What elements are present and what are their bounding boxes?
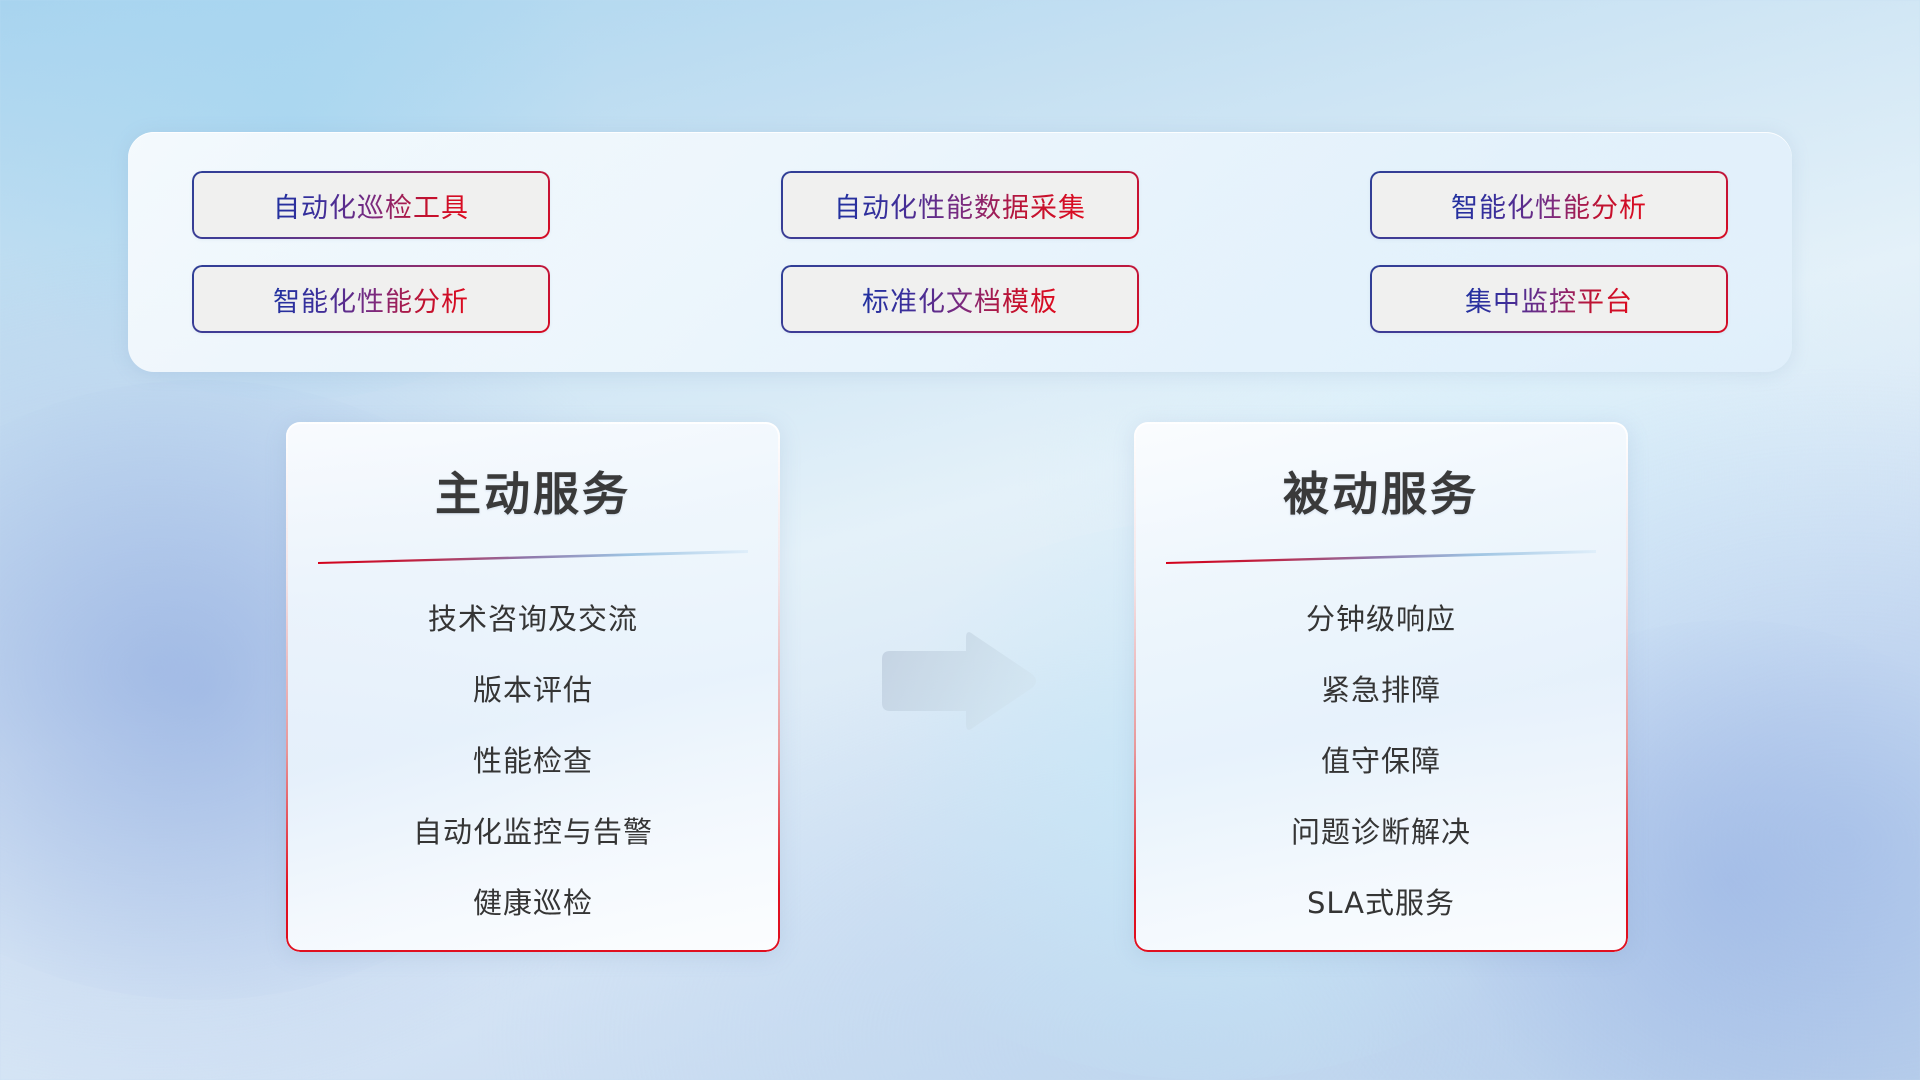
- capability-pill-intelligent-performance-analysis-2[interactable]: 智能化性能分析: [192, 265, 550, 333]
- capability-pill-label: 智能化性能分析: [273, 280, 469, 319]
- capability-panel: 自动化巡检工具 自动化性能数据采集 智能化性能分析 智能化性能分析 标准化文档模…: [128, 132, 1792, 372]
- card-divider: [318, 550, 748, 564]
- capability-row-2: 智能化性能分析 标准化文档模板 集中监控平台: [192, 265, 1728, 333]
- capability-pill-label: 标准化文档模板: [862, 280, 1058, 319]
- service-card-reactive: 被动服务 分钟级响应 紧急排障 值守保障 问题诊断解决 SLA式服务: [1134, 422, 1628, 952]
- capability-row-1: 自动化巡检工具 自动化性能数据采集 智能化性能分析: [192, 171, 1728, 239]
- capability-pill-label: 智能化性能分析: [1451, 186, 1647, 225]
- service-card-list: 分钟级响应 紧急排障 值守保障 问题诊断解决 SLA式服务: [1134, 596, 1628, 922]
- capability-pill-label: 自动化性能数据采集: [834, 186, 1086, 225]
- arrow-right-icon: [874, 626, 1040, 736]
- service-card-title: 被动服务: [1283, 458, 1479, 524]
- list-item: 性能检查: [473, 738, 593, 780]
- service-card-proactive: 主动服务 技术咨询及交流 版本评估 性能检查 自动化监控与告警 健康巡检: [286, 422, 780, 952]
- card-divider: [1166, 550, 1596, 564]
- list-item: 健康巡检: [473, 880, 593, 922]
- service-card-list: 技术咨询及交流 版本评估 性能检查 自动化监控与告警 健康巡检: [286, 596, 780, 922]
- capability-pill-automated-inspection-tool[interactable]: 自动化巡检工具: [192, 171, 550, 239]
- list-item: 分钟级响应: [1306, 596, 1456, 638]
- capability-pill-label: 集中监控平台: [1465, 280, 1633, 319]
- list-item: 技术咨询及交流: [428, 596, 638, 638]
- capability-pill-standardized-document-template[interactable]: 标准化文档模板: [781, 265, 1139, 333]
- list-item: 版本评估: [473, 667, 593, 709]
- list-item: 紧急排障: [1321, 667, 1441, 709]
- capability-pill-automated-performance-data-collection[interactable]: 自动化性能数据采集: [781, 171, 1139, 239]
- list-item: 自动化监控与告警: [413, 809, 653, 851]
- capability-pill-label: 自动化巡检工具: [273, 186, 469, 225]
- capability-pill-intelligent-performance-analysis[interactable]: 智能化性能分析: [1370, 171, 1728, 239]
- service-card-title: 主动服务: [435, 458, 631, 524]
- list-item: 值守保障: [1321, 738, 1441, 780]
- capability-pill-centralized-monitoring-platform[interactable]: 集中监控平台: [1370, 265, 1728, 333]
- list-item: 问题诊断解决: [1291, 809, 1471, 851]
- list-item: SLA式服务: [1307, 880, 1455, 922]
